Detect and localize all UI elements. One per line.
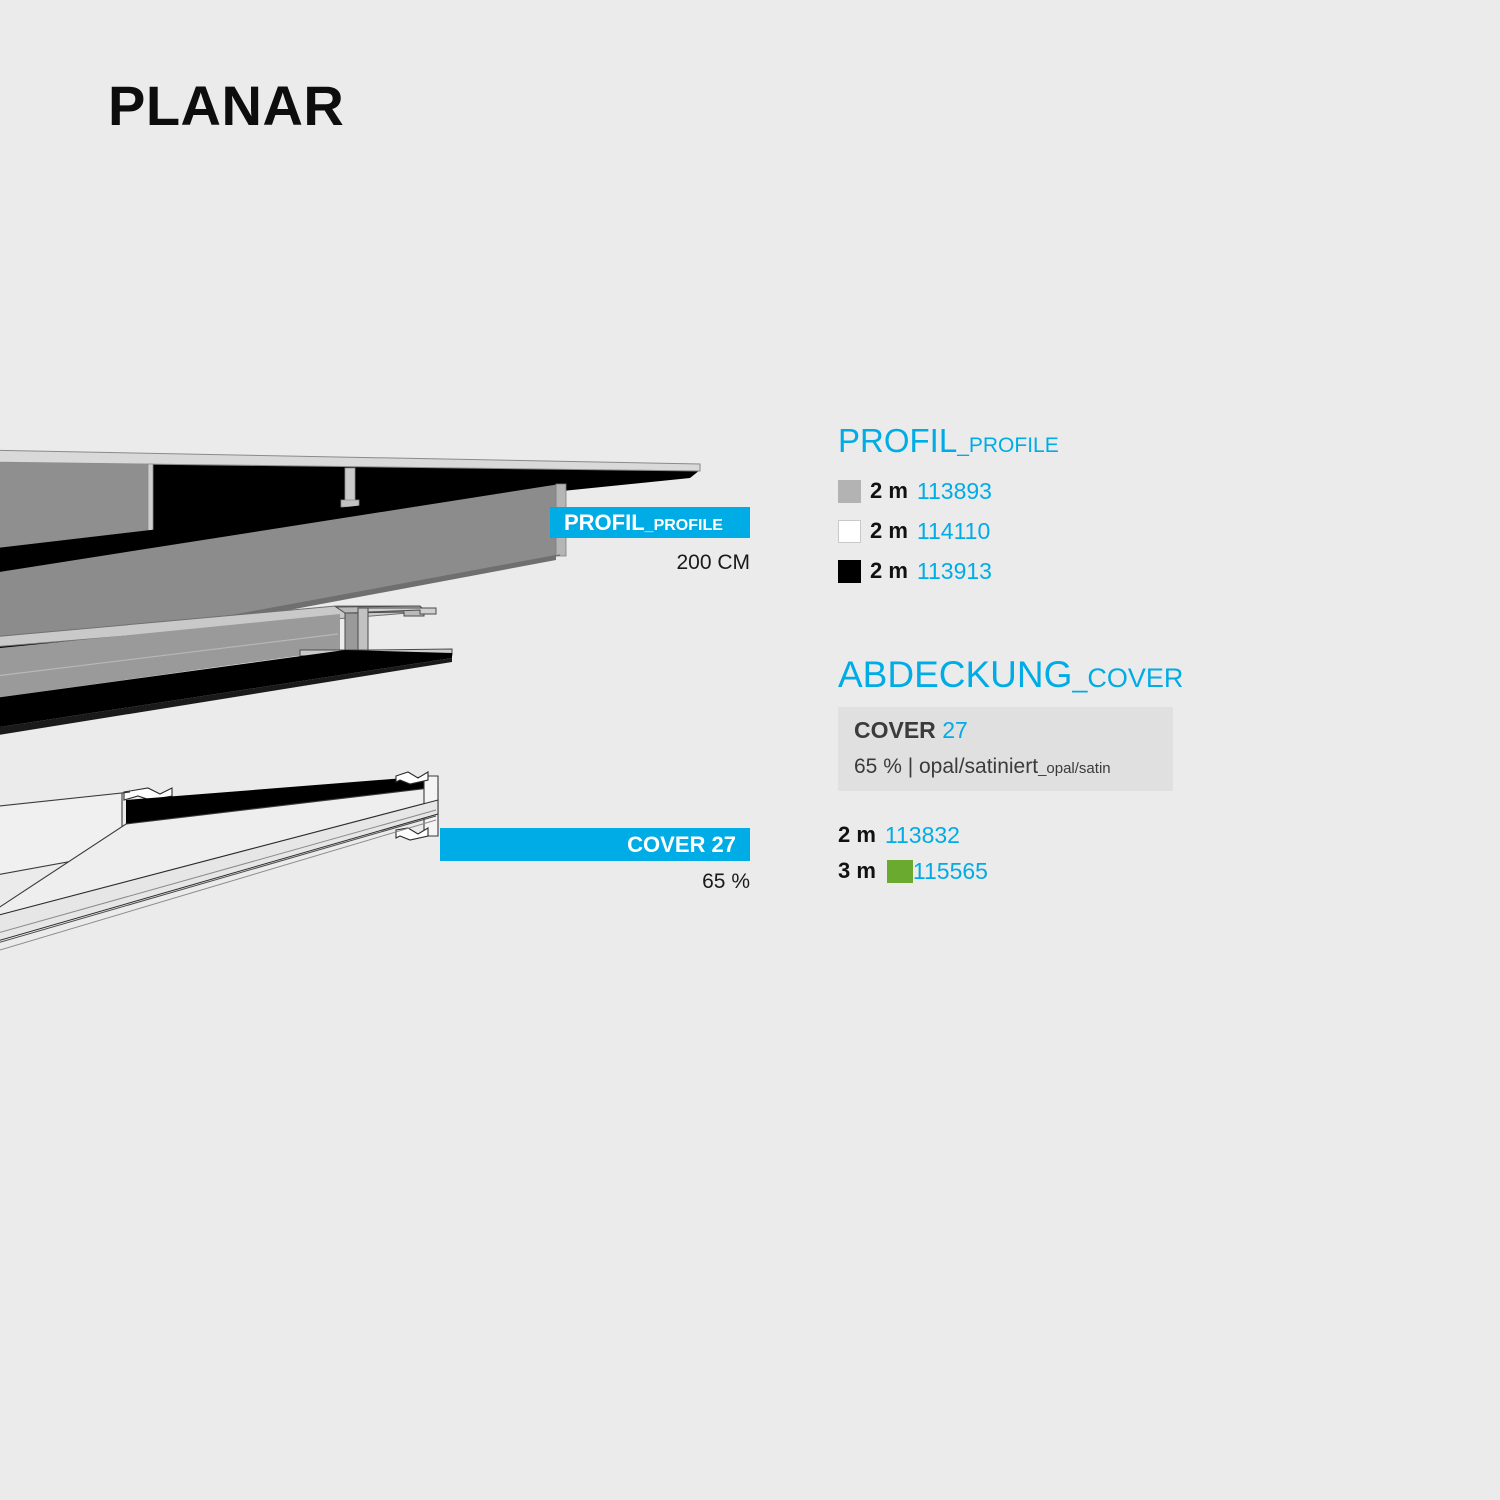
callout-cover-sublabel: 65 %	[470, 871, 750, 892]
spec-article-code[interactable]: 115565	[913, 858, 988, 885]
cover-lens-perspective	[0, 772, 438, 956]
callout-band-cover: COVER 27	[440, 828, 750, 861]
spec-row-profil-grey[interactable]: 2 m 113893	[838, 471, 1059, 511]
spec-row-profil-black[interactable]: 2 m 113913	[838, 551, 1059, 591]
catalog-page: PLANAR	[0, 0, 1500, 1500]
spec-length: 2 m	[838, 822, 876, 848]
cover-info-title: COVER 27	[854, 719, 1157, 742]
spec-row-cover-3m[interactable]: 3 m 115565	[838, 853, 1183, 889]
spec-row-cover-2m[interactable]: 2 m 113832	[838, 817, 1183, 853]
color-swatch-grey	[838, 480, 861, 503]
spec-section-profil-heading: PROFIL_PROFILE	[838, 424, 1059, 457]
spec-article-code[interactable]: 113913	[917, 558, 992, 585]
spec-length: 2 m	[870, 518, 908, 544]
spec-section-abdeckung: ABDECKUNG_COVER COVER 27 65 % | opal/sat…	[838, 656, 1183, 889]
spec-article-code[interactable]: 114110	[917, 518, 990, 545]
product-illustration	[0, 400, 790, 1000]
callout-profil-sublabel: 200 CM	[470, 552, 750, 573]
cover-info-description: 65 % | opal/satiniert_opal/satin	[854, 756, 1157, 777]
spec-article-code[interactable]: 113893	[917, 478, 992, 505]
spec-section-profil: PROFIL_PROFILE 2 m 113893 2 m 114110 2 m…	[838, 424, 1059, 591]
page-title: PLANAR	[108, 78, 344, 134]
cover-info-box: COVER 27 65 % | opal/satiniert_opal/sati…	[838, 707, 1173, 791]
color-swatch-green	[887, 860, 913, 883]
spec-length: 3 m	[838, 858, 876, 884]
color-swatch-black	[838, 560, 861, 583]
spec-length: 2 m	[870, 558, 908, 584]
callout-band-profil: PROFIL_PROFILE	[550, 507, 750, 538]
spec-length: 2 m	[870, 478, 908, 504]
spec-section-abdeckung-heading: ABDECKUNG_COVER	[838, 656, 1183, 693]
callout-cover-label: COVER 27	[627, 834, 736, 856]
color-swatch-white	[838, 520, 861, 543]
spec-row-profil-white[interactable]: 2 m 114110	[838, 511, 1059, 551]
cover-article-rows: 2 m 113832 3 m 115565	[838, 817, 1183, 889]
spec-article-code[interactable]: 113832	[885, 822, 960, 849]
callout-profil-label: PROFIL_PROFILE	[564, 512, 723, 534]
